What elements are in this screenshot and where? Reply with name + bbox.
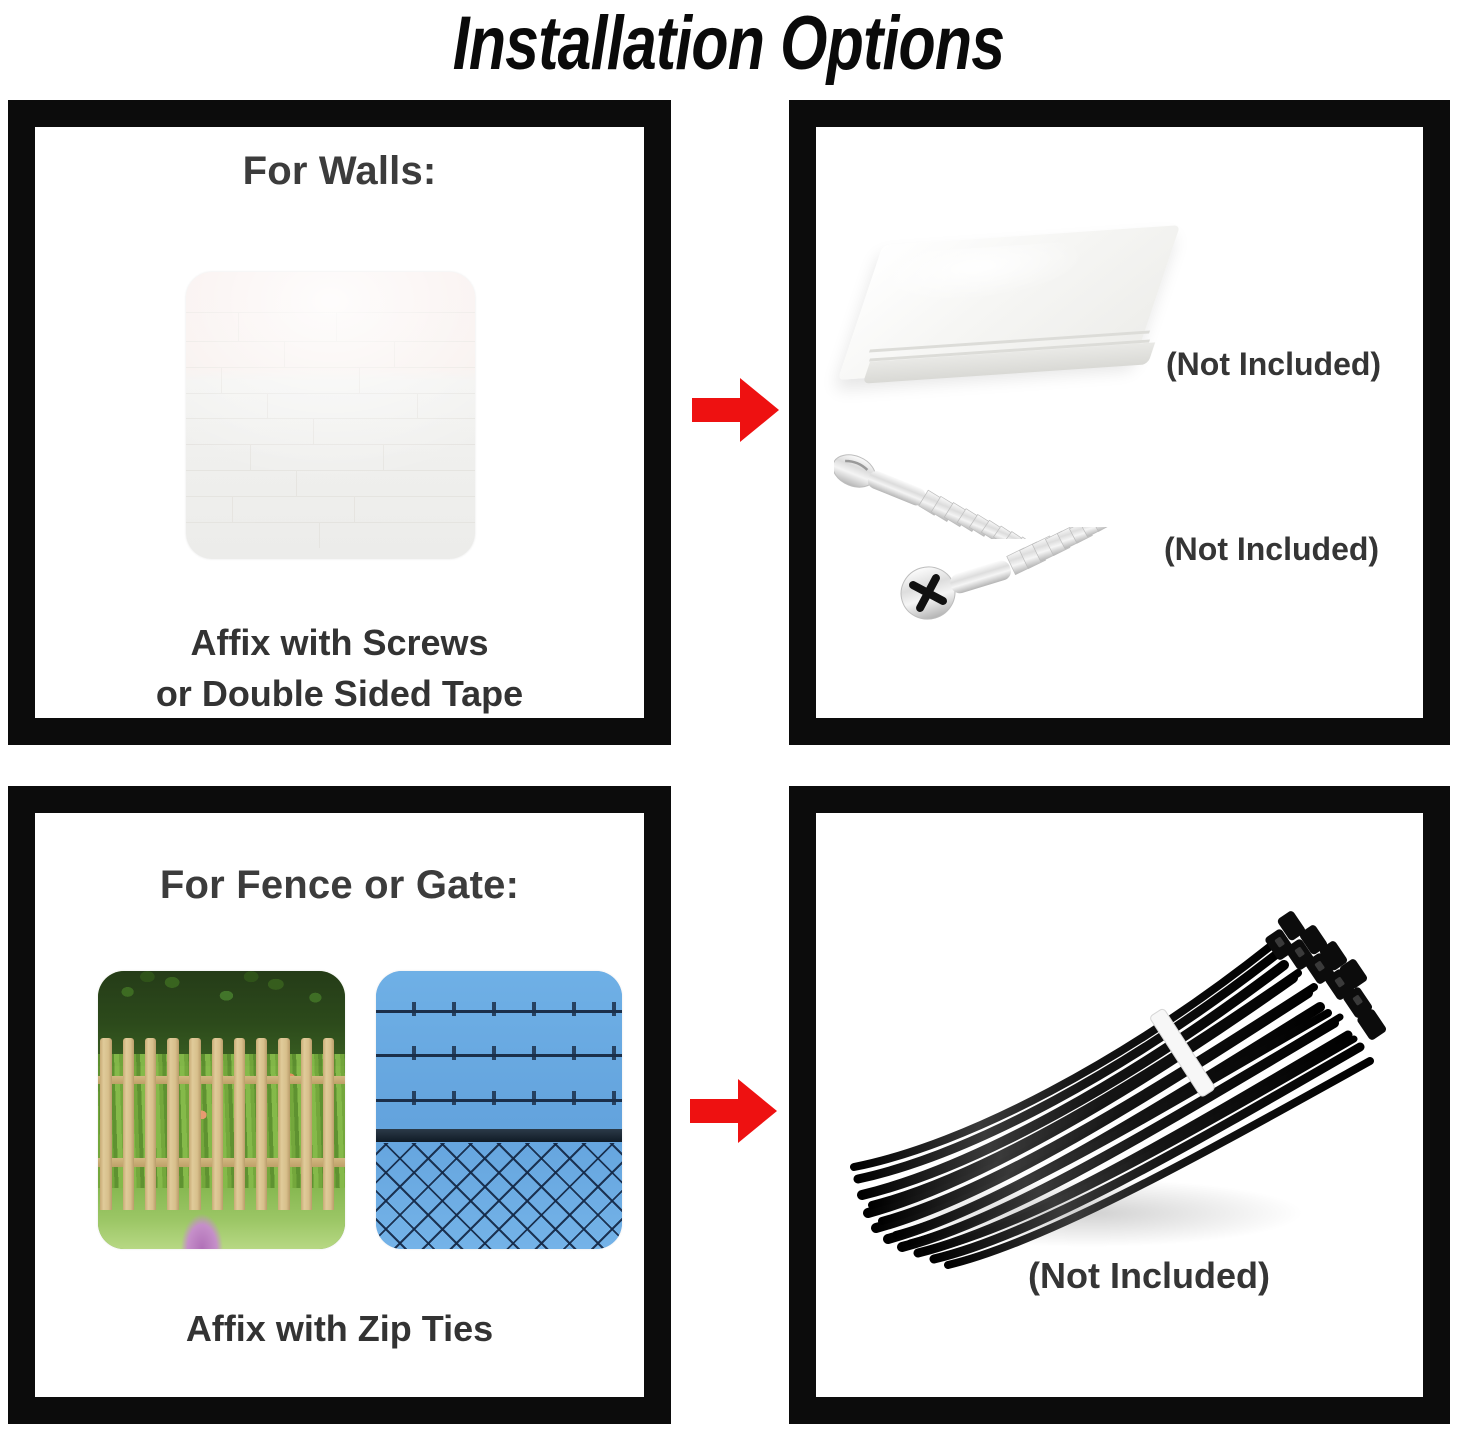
purple-path <box>180 1205 224 1249</box>
tape-not-included-note: (Not Included) <box>1166 346 1381 383</box>
picket-slats <box>98 1038 345 1210</box>
barb-spikes <box>376 1091 622 1105</box>
fence-heading: For Fence or Gate: <box>35 863 644 908</box>
page-title: Installation Options <box>146 0 1312 88</box>
white-brick-wall-photo <box>186 272 475 559</box>
walls-caption-line2: or Double Sided Tape <box>35 668 644 718</box>
barbed-wire <box>376 1054 622 1057</box>
barbed-wire <box>376 1099 622 1102</box>
arrow-right-icon-top <box>692 376 780 444</box>
chain-link-barbed-wire-fence-photo <box>376 971 622 1249</box>
walls-caption-line1: Affix with Screws <box>35 617 644 668</box>
wall-highlight <box>186 272 475 559</box>
zipties-not-included-note: (Not Included) <box>1028 1255 1270 1297</box>
chain-link-mesh <box>376 1143 622 1249</box>
black-zip-ties-bundle <box>838 883 1398 1283</box>
panel-for-walls: For Walls: <box>8 100 671 745</box>
barb-spikes <box>376 1046 622 1060</box>
panel-wall-hardware: (Not Included) <box>789 100 1450 745</box>
panel-zip-ties: (Not Included) <box>789 786 1450 1424</box>
panel-for-fence-or-gate: For Fence or Gate: <box>8 786 671 1424</box>
fence-top-rail <box>376 1129 622 1142</box>
walls-heading: For Walls: <box>35 149 644 194</box>
double-sided-tape-stack <box>864 235 1154 370</box>
wood-screw-lower <box>894 527 1184 635</box>
arrow-right-icon-bottom <box>690 1077 778 1145</box>
barb-spikes <box>376 1002 622 1016</box>
installation-options-infographic: Installation Options For Walls: <box>0 0 1457 1434</box>
barbed-wire <box>376 1010 622 1013</box>
fence-caption: Affix with Zip Ties <box>35 1303 644 1354</box>
screws-not-included-note: (Not Included) <box>1164 531 1379 568</box>
wood-screw-upper <box>834 445 1112 539</box>
wooden-picket-fence-photo <box>98 971 345 1249</box>
